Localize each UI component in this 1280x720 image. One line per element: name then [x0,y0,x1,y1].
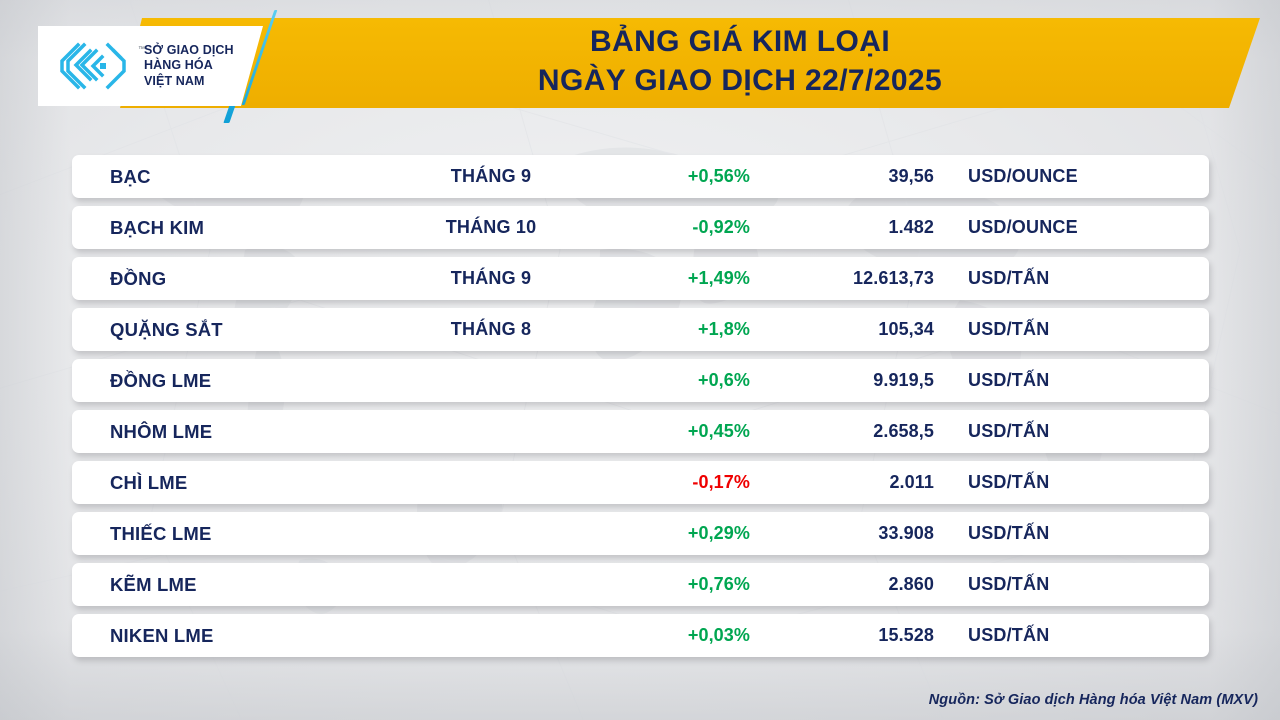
table-row[interactable]: THIẾC LME+0,29%33.908USD/TẤN [72,512,1209,555]
price-unit-cell: USD/TẤN [940,574,1209,595]
brand-name-line-1: SỞ GIAO DỊCH [144,43,234,59]
metal-name-cell: THIẾC LME [72,523,372,545]
price-value-cell: 39,56 [750,166,940,187]
page-header: BẢNG GIÁ KIM LOẠI NGÀY GIAO DỊCH 22/7/20… [0,0,1280,130]
table-row[interactable]: CHÌ LME-0,17%2.011USD/TẤN [72,461,1209,504]
metal-name-cell: BẠC [72,166,372,188]
table-row[interactable]: NIKEN LME+0,03%15.528USD/TẤN [72,614,1209,657]
metal-name-cell: BẠCH KIM [72,217,372,239]
metal-price-board: BẢNG GIÁ KIM LOẠI NGÀY GIAO DỊCH 22/7/20… [0,0,1280,720]
brand-name-line-3: VIỆT NAM [144,74,234,90]
page-title-line-1: BẢNG GIÁ KIM LOẠI [590,25,890,58]
price-value-cell: 2.658,5 [750,421,940,442]
brand-name-line-2: HÀNG HÓA [144,58,234,74]
price-change-cell: +0,03% [610,625,750,646]
price-value-cell: 105,34 [750,319,940,340]
contract-month-cell: THÁNG 8 [372,319,610,340]
price-change-cell: +0,6% [610,370,750,391]
metal-name-cell: ĐỒNG LME [72,370,372,392]
price-value-cell: 33.908 [750,523,940,544]
price-unit-cell: USD/TẤN [940,319,1209,340]
price-unit-cell: USD/TẤN [940,625,1209,646]
page-title-line-2: NGÀY GIAO DỊCH 22/7/2025 [300,61,1180,100]
mxv-maze-logo-icon [58,41,132,91]
table-row[interactable]: KẼM LME+0,76%2.860USD/TẤN [72,563,1209,606]
source-note: Nguồn: Sở Giao dịch Hàng hóa Việt Nam (M… [929,692,1258,708]
table-row[interactable]: QUẶNG SẮTTHÁNG 8+1,8%105,34USD/TẤN [72,308,1209,351]
price-table: BẠCTHÁNG 9+0,56%39,56USD/OUNCEBẠCH KIMTH… [0,155,1280,665]
price-change-cell: +0,76% [610,574,750,595]
price-change-cell: +0,45% [610,421,750,442]
price-change-cell: +0,29% [610,523,750,544]
price-change-cell: -0,92% [610,217,750,238]
price-unit-cell: USD/TẤN [940,370,1209,391]
metal-name-cell: CHÌ LME [72,472,372,494]
brand-name: SỞ GIAO DỊCH HÀNG HÓA VIỆT NAM [144,43,234,90]
price-change-cell: +1,49% [610,268,750,289]
price-value-cell: 12.613,73 [750,268,940,289]
price-change-cell: -0,17% [610,472,750,493]
price-value-cell: 9.919,5 [750,370,940,391]
price-unit-cell: USD/OUNCE [940,166,1209,187]
contract-month-cell: THÁNG 9 [372,268,610,289]
price-value-cell: 1.482 [750,217,940,238]
price-change-cell: +1,8% [610,319,750,340]
price-change-cell: +0,56% [610,166,750,187]
metal-name-cell: NIKEN LME [72,625,372,647]
metal-name-cell: NHÔM LME [72,421,372,443]
price-unit-cell: USD/TẤN [940,268,1209,289]
table-row[interactable]: ĐỒNG LME+0,6%9.919,5USD/TẤN [72,359,1209,402]
metal-name-cell: KẼM LME [72,574,372,596]
price-value-cell: 2.860 [750,574,940,595]
table-row[interactable]: BẠCTHÁNG 9+0,56%39,56USD/OUNCE [72,155,1209,198]
metal-name-cell: ĐỒNG [72,268,372,290]
table-row[interactable]: BẠCH KIMTHÁNG 10-0,92%1.482USD/OUNCE [72,206,1209,249]
price-unit-cell: USD/OUNCE [940,217,1209,238]
brand-logo-card: ™ SỞ GIAO DỊCH HÀNG HÓA VIỆT NAM [38,26,263,106]
price-value-cell: 15.528 [750,625,940,646]
price-unit-cell: USD/TẤN [940,523,1209,544]
contract-month-cell: THÁNG 10 [372,217,610,238]
page-title: BẢNG GIÁ KIM LOẠI NGÀY GIAO DỊCH 22/7/20… [300,22,1180,100]
contract-month-cell: THÁNG 9 [372,166,610,187]
price-unit-cell: USD/TẤN [940,421,1209,442]
table-row[interactable]: NHÔM LME+0,45%2.658,5USD/TẤN [72,410,1209,453]
trademark-symbol: ™ [138,46,145,53]
price-unit-cell: USD/TẤN [940,472,1209,493]
table-row[interactable]: ĐỒNGTHÁNG 9+1,49%12.613,73USD/TẤN [72,257,1209,300]
price-value-cell: 2.011 [750,472,940,493]
metal-name-cell: QUẶNG SẮT [72,319,372,341]
